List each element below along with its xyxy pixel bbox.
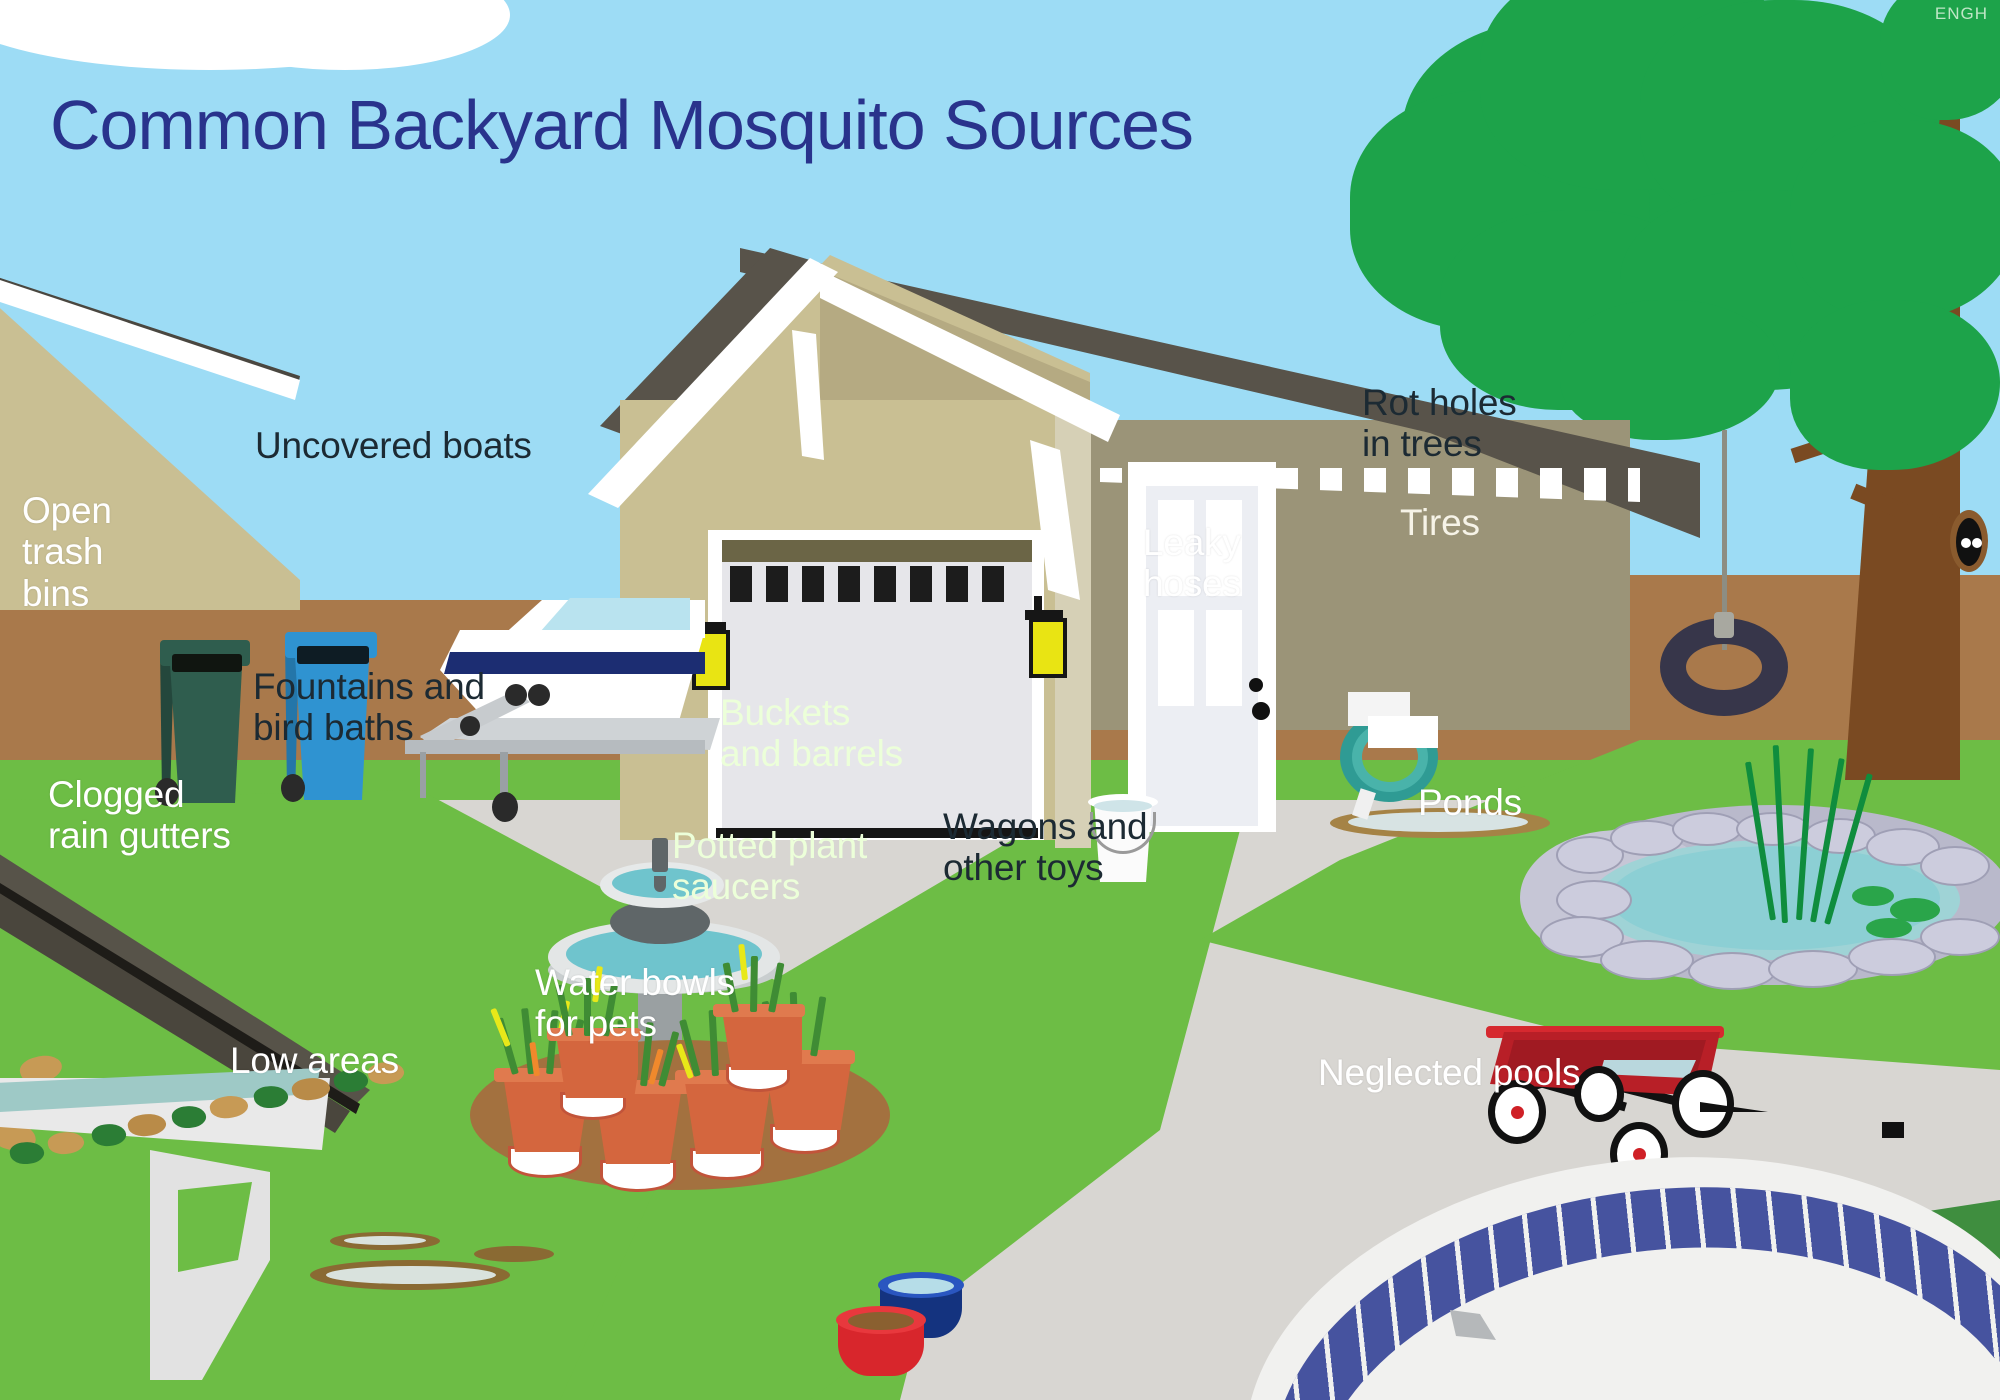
trash-bin-blue-opening xyxy=(297,646,369,664)
wagon-grip[interactable] xyxy=(1882,1122,1904,1138)
lily-pad xyxy=(1852,886,1894,906)
wagon-hub xyxy=(1511,1106,1524,1119)
side-door-panel xyxy=(1206,610,1242,706)
label-ponds: Ponds xyxy=(1418,782,1522,823)
low-area-puddle-water xyxy=(326,1266,496,1284)
pond-stone xyxy=(1688,952,1776,990)
pet-bowl-water xyxy=(888,1278,954,1294)
rot-hole-eye xyxy=(1972,538,1982,548)
trailer-support-leg xyxy=(420,752,426,798)
label-uncovered-boats: Uncovered boats xyxy=(255,425,532,466)
pond-stone xyxy=(1768,950,1858,988)
label-potted-plant-saucers: Potted plant saucers xyxy=(672,825,867,908)
fountain-water-drop xyxy=(654,876,666,892)
label-wagons-and-other-toys: Wagons and other toys xyxy=(943,806,1147,889)
pet-bowl-food xyxy=(848,1312,914,1330)
trash-bin-wheel xyxy=(281,774,305,802)
garage-door-top-band xyxy=(722,540,1032,562)
wagon-wheel xyxy=(1574,1066,1624,1122)
door-knob-icon[interactable] xyxy=(1249,678,1263,692)
label-rot-holes-in-trees: Rot holes in trees xyxy=(1362,382,1517,465)
garage-door-window xyxy=(802,566,824,602)
garage-door-window xyxy=(910,566,932,602)
rot-hole-eye xyxy=(1961,538,1971,548)
hose-reel-bracket xyxy=(1368,716,1438,748)
garage-door-window xyxy=(838,566,860,602)
plant-foliage xyxy=(750,956,758,1012)
rope-knot xyxy=(1714,612,1734,638)
label-buckets-and-barrels: Buckets and barrels xyxy=(720,692,903,775)
low-area-puddle xyxy=(474,1246,554,1262)
label-low-areas: Low areas xyxy=(230,1040,399,1081)
lily-pad xyxy=(1866,918,1912,938)
trailer-roller xyxy=(505,684,527,706)
label-clogged-rain-gutters: Clogged rain gutters xyxy=(48,774,231,857)
side-door-panel xyxy=(1158,610,1194,706)
label-tires: Tires xyxy=(1400,502,1480,543)
label-water-bowls-for-pets: Water bowls for pets xyxy=(535,962,735,1045)
garage-door-window xyxy=(982,566,1004,602)
garage-door-window xyxy=(766,566,788,602)
door-lock-icon[interactable] xyxy=(1252,702,1270,720)
pond-stone xyxy=(1600,940,1694,980)
trailer-roller xyxy=(528,684,550,706)
pond-stone xyxy=(1920,846,1990,886)
tree-foliage xyxy=(1790,120,2000,320)
garage-door-window xyxy=(946,566,968,602)
label-open-trash-bins: Open trash bins xyxy=(22,490,112,614)
pond-stone xyxy=(1736,812,1810,846)
garage-door-window xyxy=(730,566,752,602)
plant-saucer xyxy=(600,1160,676,1192)
watermark-label: ENGH xyxy=(1935,4,1988,23)
page-title: Common Backyard Mosquito Sources xyxy=(50,86,1193,164)
pond-stone xyxy=(1556,880,1632,920)
label-leaky-hoses: Leaky hoses xyxy=(1143,522,1241,605)
fountain-spout xyxy=(652,838,668,872)
wall-lantern-icon xyxy=(1029,618,1067,678)
trailer-wheel xyxy=(492,792,518,822)
pond-stone xyxy=(1672,812,1742,846)
trash-bin-green-opening xyxy=(172,654,242,672)
label-neglected-pools: Neglected pools xyxy=(1318,1052,1580,1093)
low-area-puddle-water xyxy=(344,1236,426,1245)
pond-stone xyxy=(1920,918,2000,956)
infographic-canvas: Common Backyard Mosquito Sources ENGH Un… xyxy=(0,0,2000,1400)
label-fountains-bird-baths: Fountains and bird baths xyxy=(253,666,485,749)
garage-door-window xyxy=(874,566,896,602)
